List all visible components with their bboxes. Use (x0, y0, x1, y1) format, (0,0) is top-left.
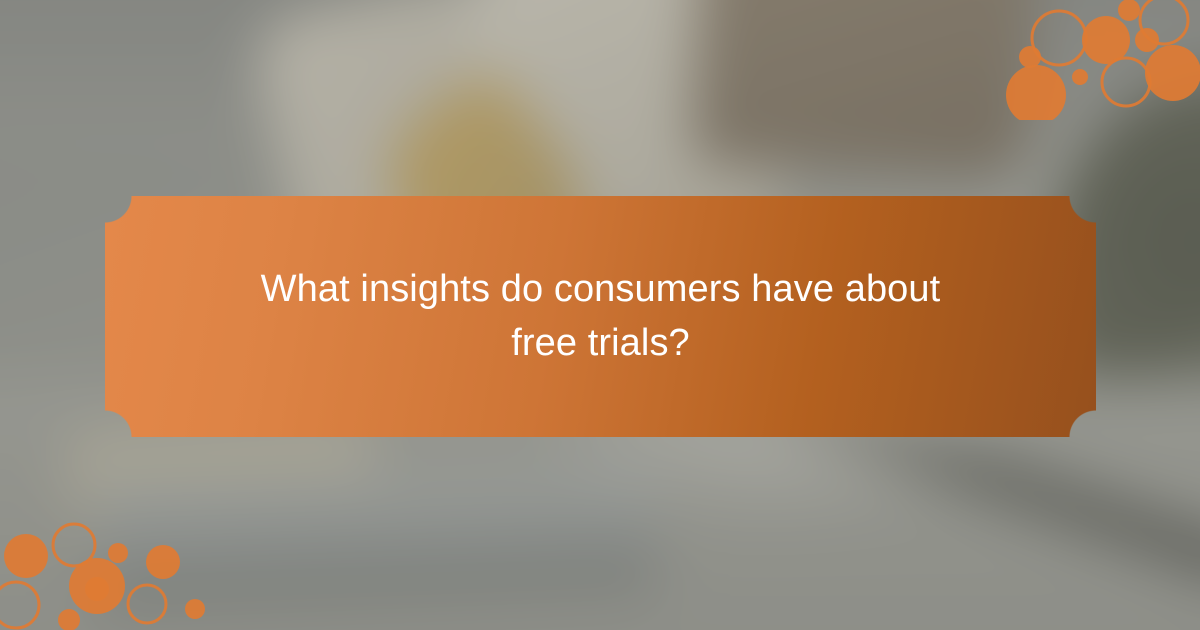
decorative-circle (69, 558, 125, 614)
decorative-circle (1019, 46, 1041, 68)
decorative-circle (108, 543, 128, 563)
decorative-circle (1140, 0, 1188, 44)
circle-cluster-top-right (1000, 0, 1200, 120)
decorative-circle (0, 582, 39, 628)
decorative-circle (1032, 11, 1086, 65)
decorative-circle (1145, 45, 1200, 101)
decorative-circle (1102, 58, 1150, 106)
decorative-circle (128, 585, 166, 623)
decorative-circle (1118, 0, 1140, 21)
decorative-circle (1072, 69, 1088, 85)
decorative-circle (146, 545, 180, 579)
decorative-circle (58, 609, 80, 630)
decorative-circle (1006, 65, 1066, 120)
decorative-circle (4, 534, 48, 578)
circle-cluster-bottom-left (0, 510, 230, 630)
headline-banner: What insights do consumers have about fr… (105, 196, 1096, 437)
poster-canvas: What insights do consumers have about fr… (0, 0, 1200, 630)
page-title: What insights do consumers have about fr… (221, 263, 981, 371)
decorative-circle (1135, 28, 1159, 52)
decorative-circle (185, 599, 205, 619)
